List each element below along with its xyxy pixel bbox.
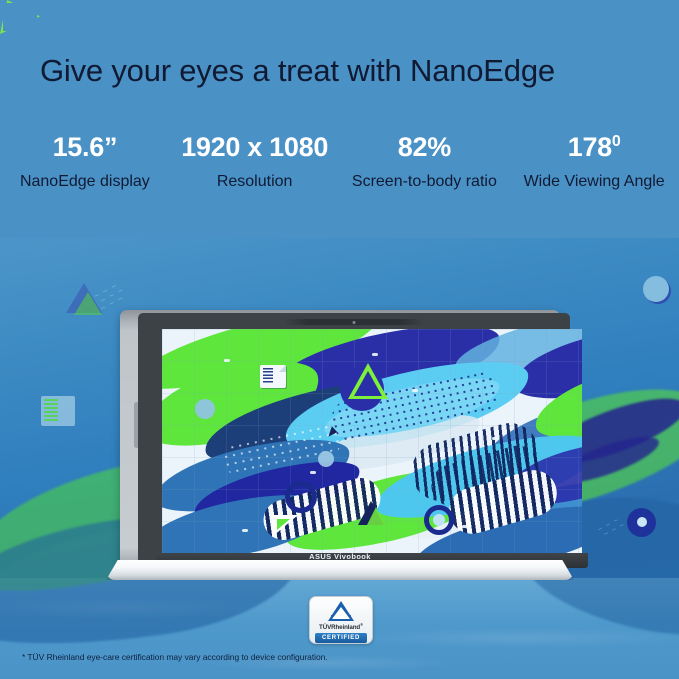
tuv-rheinland-badge: TÜVRheinland® CERTIFIED [309,596,373,644]
spec-value: 15.6” [4,133,166,161]
tuv-swoosh-icon [331,615,351,620]
page-title: Give your eyes a treat with NanoEdge [40,53,650,89]
tuv-certified-label: CERTIFIED [315,633,367,643]
spec-value: 1780 [513,133,675,161]
spec-viewing-angle: 1780 Wide Viewing Angle [509,133,679,192]
spec-value-number: 178 [568,132,612,162]
wallpaper-circle-icon-1 [195,399,215,419]
tuv-triangle-icon [328,601,354,621]
tuv-badge-name-text: TÜVRheinland [319,624,360,631]
laptop-screen [162,329,582,553]
laptop-lid: ASUS Vivobook [120,310,560,568]
laptop-brand-label: ASUS Vivobook [120,552,560,561]
wallpaper [162,329,582,553]
decor-circle-top-right-icon [643,276,669,302]
laptop-base [106,560,574,580]
webcam-icon [353,321,356,324]
spec-value: 82% [344,133,506,161]
laptop-bezel [138,313,570,565]
background-top-band [0,0,679,250]
spec-value: 1920 x 1080 [174,133,336,161]
wallpaper-ring-icon-2 [424,505,454,535]
spec-screen-to-body: 82% Screen-to-body ratio [340,133,510,192]
decor-circle-bottom-right-inner-icon [637,517,647,527]
tuv-badge-name: TÜVRheinland® [319,622,363,631]
promo-banner: ~ ~ ~ ~ ~ ~ ~ ~ ~ ~ ~ ~ ~ ~ ~ Give your … [0,0,679,679]
wallpaper-ring-icon-1 [285,481,317,513]
spec-label: Resolution [174,172,336,192]
footnote-text: * TÜV Rheinland eye-care certification m… [22,652,328,662]
tuv-registered-mark: ® [360,622,363,627]
spec-label: NanoEdge display [4,172,166,192]
spec-resolution: 1920 x 1080 Resolution [170,133,340,192]
wallpaper-circle-icon-2 [318,451,334,467]
spec-label: Screen-to-body ratio [344,172,506,192]
spec-display-size: 15.6” NanoEdge display [0,133,170,192]
spec-label: Wide Viewing Angle [513,172,675,192]
laptop-product-image: ASUS Vivobook [106,310,574,578]
wallpaper-document-icon [260,365,286,388]
spec-value-degree: 0 [612,133,621,150]
specs-row: 15.6” NanoEdge display 1920 x 1080 Resol… [0,133,679,192]
decor-document-lines-icon [44,399,58,423]
